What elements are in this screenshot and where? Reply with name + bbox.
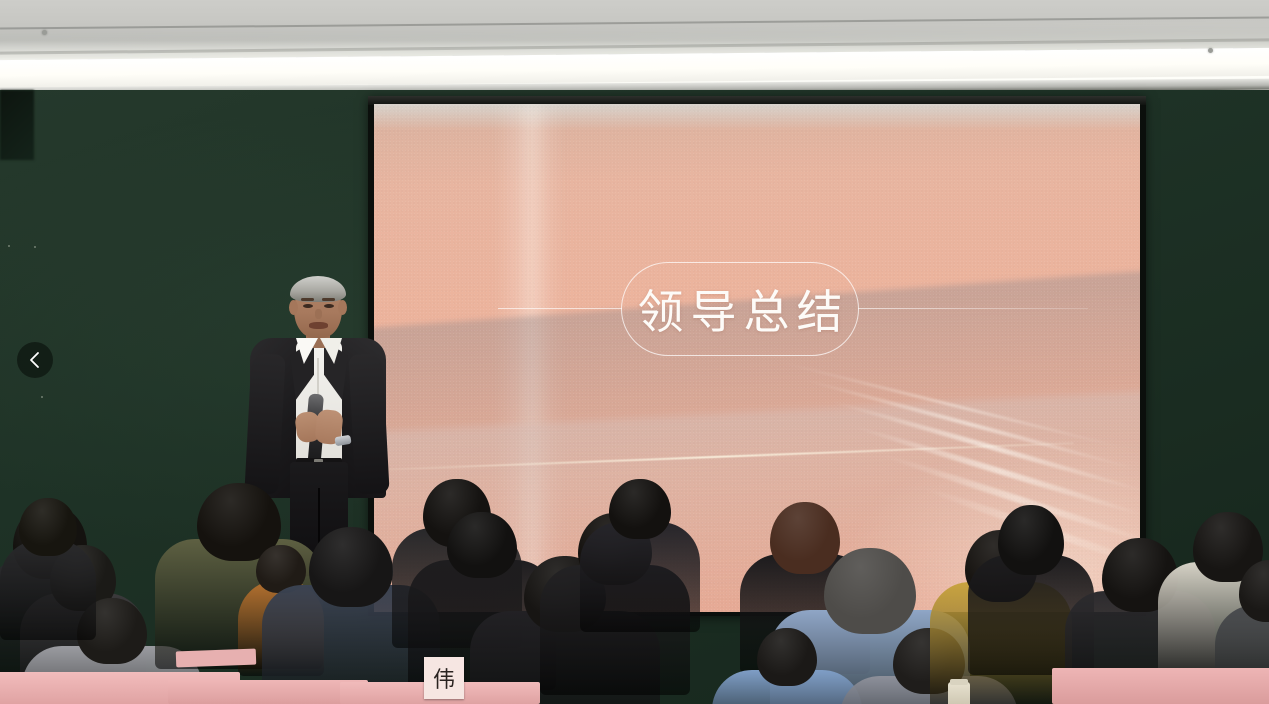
attendee-row2-dark: [580, 479, 700, 649]
desk-row-front-right: [1052, 668, 1269, 704]
presenter-ear-right: [338, 300, 347, 315]
attendee-head: [998, 505, 1064, 575]
wall-corner-shadow: [0, 90, 34, 160]
wall-speck: [8, 245, 10, 247]
attendee-dark-hair-glasses: [0, 498, 96, 656]
attendee-head: [824, 548, 916, 634]
water-bottle-cap: [950, 679, 968, 685]
ceiling-seam: [0, 16, 1269, 29]
presenter-hair: [290, 276, 346, 302]
presenter-ear-left: [289, 300, 298, 315]
ceiling: [0, 0, 1269, 92]
name-card-text: 伟: [433, 662, 455, 694]
attendee-head: [757, 628, 817, 686]
presenter-mouth: [309, 322, 328, 329]
name-card: 伟: [424, 657, 464, 699]
presenter-eye-left: [303, 304, 313, 308]
slide-accent-line-right: [858, 308, 1088, 309]
presenter-eyebrow-left: [301, 298, 314, 301]
presentation-photo: 领导总结: [0, 0, 1269, 704]
slide-title-pill: 领导总结: [621, 262, 859, 356]
ceiling-fixture-screw: [42, 30, 47, 35]
chevron-left-icon: [28, 351, 42, 369]
prev-image-button[interactable]: [17, 342, 53, 378]
desk-edge: [176, 649, 257, 668]
presenter-nose: [315, 309, 322, 319]
attendee-head: [19, 498, 77, 556]
presenter-eyebrow-right: [322, 298, 335, 301]
attendee-head: [309, 527, 393, 607]
slide-accent-line-left: [498, 308, 622, 309]
wall-speck: [41, 396, 43, 398]
ceiling-fixture-screw: [1208, 48, 1213, 53]
water-bottle: [948, 682, 970, 704]
presenter-arm-right: [348, 353, 389, 495]
slide-title: 领导总结: [631, 276, 850, 342]
desk-row-front-left-2: [168, 680, 368, 704]
presenter-eye-right: [324, 304, 334, 308]
attendee-head: [609, 479, 671, 539]
wall-speck: [34, 246, 36, 248]
